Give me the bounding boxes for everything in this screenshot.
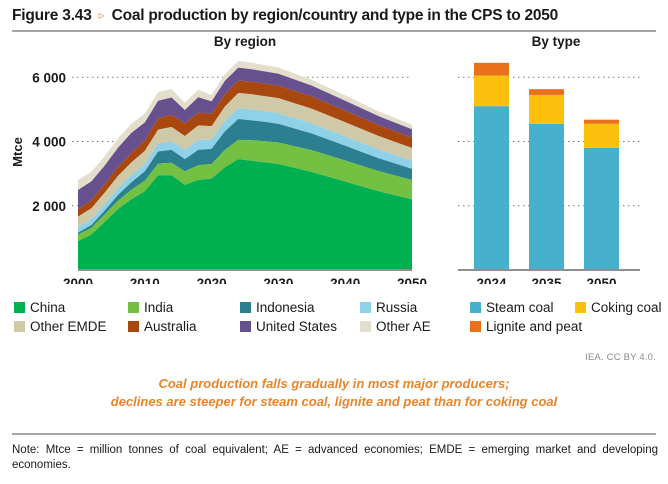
bar-segment-coking-coal xyxy=(584,124,619,148)
x-tick-label: 2000 xyxy=(63,276,93,284)
legend-swatch-icon xyxy=(14,302,25,313)
legend-item-coking-coal[interactable]: Coking coal xyxy=(575,300,662,315)
key-message-line-2: declines are steeper for steam coal, lig… xyxy=(0,393,668,411)
note-text: Note: Mtce = million tonnes of coal equi… xyxy=(12,443,658,473)
legend-label: Russia xyxy=(376,300,417,315)
bar-segment-coking-coal xyxy=(474,76,509,107)
figure-header: Figure 3.43 ▹ Coal production by region/… xyxy=(0,0,668,25)
legend-item-steam-coal[interactable]: Steam coal xyxy=(470,300,554,315)
charts-container: By regionMtce2 0004 0006 000200020102020… xyxy=(0,32,668,284)
legend-label: Steam coal xyxy=(486,300,554,315)
legend-item-other-ae[interactable]: Other AE xyxy=(360,319,431,334)
bar-x-tick-label: 2024 xyxy=(476,276,507,284)
figure-number: Figure 3.43 xyxy=(12,7,92,25)
legend-item-indonesia[interactable]: Indonesia xyxy=(240,300,315,315)
legend-swatch-icon xyxy=(360,302,371,313)
legend-swatch-icon xyxy=(360,321,371,332)
chart-title-by-type: By type xyxy=(532,34,581,49)
legend-swatch-icon xyxy=(470,321,481,332)
legend-label: India xyxy=(144,300,173,315)
legend-swatch-icon xyxy=(240,302,251,313)
bar-segment-lignite-and-peat xyxy=(474,63,509,76)
x-tick-label: 2020 xyxy=(197,276,227,284)
bar-segment-steam-coal xyxy=(529,124,564,270)
bar-x-tick-label: 2050 xyxy=(586,276,616,284)
bar-segment-steam-coal xyxy=(474,106,509,270)
legend-swatch-icon xyxy=(128,321,139,332)
bar-segment-lignite-and-peat xyxy=(529,89,564,95)
charts-svg: By regionMtce2 0004 0006 000200020102020… xyxy=(0,32,668,284)
legend-label: Coking coal xyxy=(591,300,662,315)
legend-row-region-1: ChinaIndiaIndonesiaRussiaSteam coalCokin… xyxy=(0,298,668,317)
legend-swatch-icon xyxy=(128,302,139,313)
legend-swatch-icon xyxy=(14,321,25,332)
legend-label: China xyxy=(30,300,65,315)
legend-item-lignite-and-peat[interactable]: Lignite and peat xyxy=(470,319,582,334)
legend-swatch-icon xyxy=(575,302,586,313)
legend-swatch-icon xyxy=(470,302,481,313)
legend-label: Indonesia xyxy=(256,300,315,315)
legend-label: Lignite and peat xyxy=(486,319,582,334)
legend-label: United States xyxy=(256,319,337,334)
y-tick-label: 2 000 xyxy=(32,199,66,214)
bar-segment-steam-coal xyxy=(584,148,619,270)
note-divider xyxy=(12,433,656,435)
legend-item-united-states[interactable]: United States xyxy=(240,319,337,334)
legend-label: Other AE xyxy=(376,319,431,334)
key-message: Coal production falls gradually in most … xyxy=(0,375,668,411)
legend-label: Australia xyxy=(144,319,197,334)
legend-item-india[interactable]: India xyxy=(128,300,173,315)
x-tick-label: 2010 xyxy=(130,276,160,284)
bar-segment-lignite-and-peat xyxy=(584,120,619,124)
bar-segment-coking-coal xyxy=(529,95,564,124)
y-tick-label: 4 000 xyxy=(32,135,66,150)
legend-label: Other EMDE xyxy=(30,319,107,334)
legend-item-china[interactable]: China xyxy=(14,300,65,315)
credit-text: IEA. CC BY 4.0. xyxy=(585,352,656,363)
legend: ChinaIndiaIndonesiaRussiaSteam coalCokin… xyxy=(0,298,668,336)
x-tick-label: 2030 xyxy=(263,276,293,284)
bar-x-tick-label: 2035 xyxy=(531,276,562,284)
legend-item-australia[interactable]: Australia xyxy=(128,319,197,334)
key-message-line-1: Coal production falls gradually in most … xyxy=(0,375,668,393)
y-tick-label: 6 000 xyxy=(32,70,66,85)
triangle-marker-icon: ▹ xyxy=(99,9,105,21)
legend-item-other-emde[interactable]: Other EMDE xyxy=(14,319,107,334)
legend-swatch-icon xyxy=(240,321,251,332)
page-title: Coal production by region/country and ty… xyxy=(112,7,558,25)
x-tick-label: 2040 xyxy=(330,276,360,284)
chart-title-by-region: By region xyxy=(214,34,276,49)
legend-row-region-2: Other EMDEAustraliaUnited StatesOther AE… xyxy=(0,317,668,336)
legend-item-russia[interactable]: Russia xyxy=(360,300,417,315)
x-tick-label: 2050 xyxy=(397,276,427,284)
y-axis-label: Mtce xyxy=(10,137,25,167)
